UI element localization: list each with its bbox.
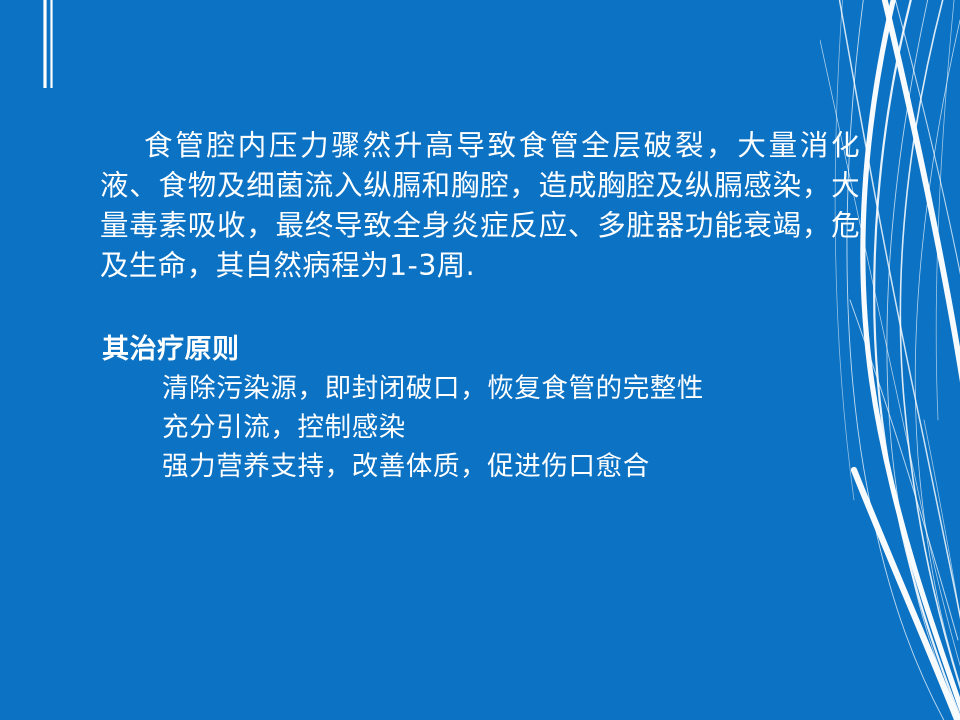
corner-bars-decoration <box>0 0 120 120</box>
list-item: 清除污染源，即封闭破口，恢复食管的完整性 <box>100 369 860 408</box>
slide-body: 食管腔内压力骤然升高导致食管全层破裂，大量消化液、食物及细菌流入纵膈和胸腔，造成… <box>100 126 860 486</box>
slide-canvas: 食管腔内压力骤然升高导致食管全层破裂，大量消化液、食物及细菌流入纵膈和胸腔，造成… <box>0 0 960 720</box>
list-item: 强力营养支持，改善体质，促进伤口愈合 <box>100 447 860 486</box>
treatment-principles-heading: 其治疗原则 <box>100 331 860 369</box>
paragraph-spacer <box>100 286 860 331</box>
treatment-principles-list: 清除污染源，即封闭破口，恢复食管的完整性 充分引流，控制感染 强力营养支持，改善… <box>100 369 860 486</box>
list-item: 充分引流，控制感染 <box>100 408 860 447</box>
body-paragraph: 食管腔内压力骤然升高导致食管全层破裂，大量消化液、食物及细菌流入纵膈和胸腔，造成… <box>100 126 860 286</box>
